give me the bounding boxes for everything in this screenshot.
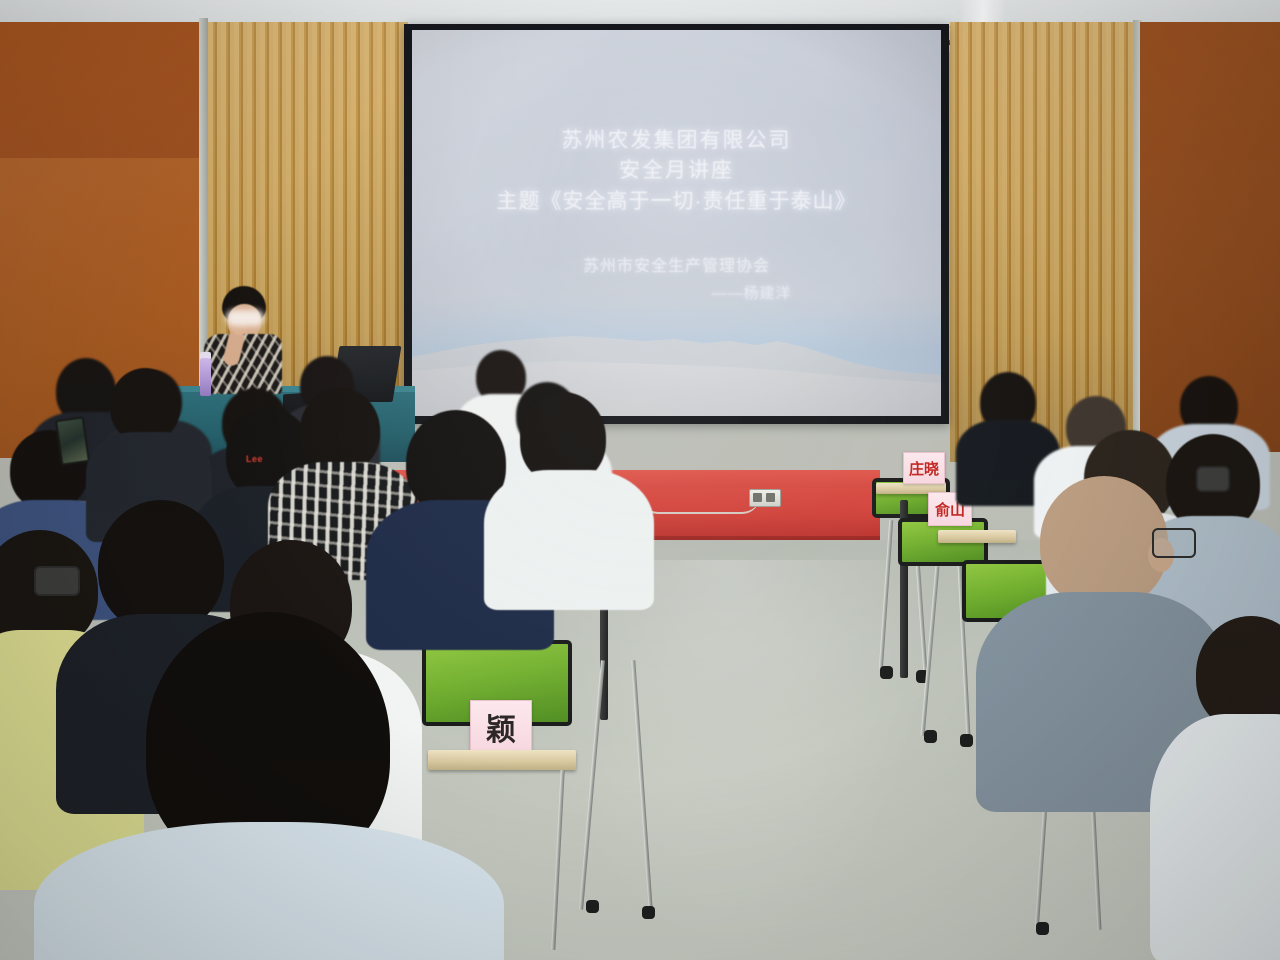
placard-mid-upper: 庄晓 xyxy=(903,452,945,484)
chair-caster xyxy=(960,734,973,747)
chair-caster xyxy=(880,666,893,679)
tablet-arm xyxy=(428,750,576,770)
power-cable xyxy=(640,496,760,514)
slide-line-3: 主题《安全高于一切·责任重于泰山》 xyxy=(412,186,941,218)
slide-presenter-credit: ——杨建洋 xyxy=(412,282,941,303)
person-torso xyxy=(484,470,654,610)
slide-line-1: 苏州农发集团有限公司 xyxy=(412,126,941,156)
eyeglasses-icon xyxy=(1152,528,1196,558)
chair-caster xyxy=(642,906,655,919)
slide-title-block: 苏州农发集团有限公司 安全月讲座 主题《安全高于一切·责任重于泰山》 xyxy=(412,126,941,218)
slat-shading xyxy=(950,22,1135,462)
face-blur-overlay xyxy=(226,310,264,326)
conference-room-photo: 苏州农发集团有限公司 安全月讲座 主题《安全高于一切·责任重于泰山》 苏州市安全… xyxy=(0,0,1280,960)
placard-front-left: 颖 xyxy=(470,700,532,754)
person-head xyxy=(110,368,180,442)
person-head xyxy=(98,500,224,632)
slide-line-2: 安全月讲座 xyxy=(412,156,941,186)
chair-caster xyxy=(924,730,937,743)
wall-outlet-icon[interactable] xyxy=(749,489,781,507)
person-torso xyxy=(34,822,504,960)
wood-slat-wall-right xyxy=(950,22,1135,462)
eyeglasses-icon xyxy=(34,566,80,596)
tee-logo: Lee xyxy=(246,454,263,464)
chair-caster xyxy=(586,900,599,913)
tablet-arm xyxy=(938,530,1016,543)
eyeglasses-icon xyxy=(1196,466,1230,492)
person-head-bald xyxy=(1040,476,1168,608)
mobile-phone[interactable] xyxy=(55,416,90,466)
chair-caster xyxy=(1036,922,1049,935)
person-torso xyxy=(1150,714,1280,960)
person-head xyxy=(300,388,380,472)
purple-water-bottle xyxy=(200,358,211,396)
slide-organization: 苏州市安全生产管理协会 xyxy=(412,252,941,276)
